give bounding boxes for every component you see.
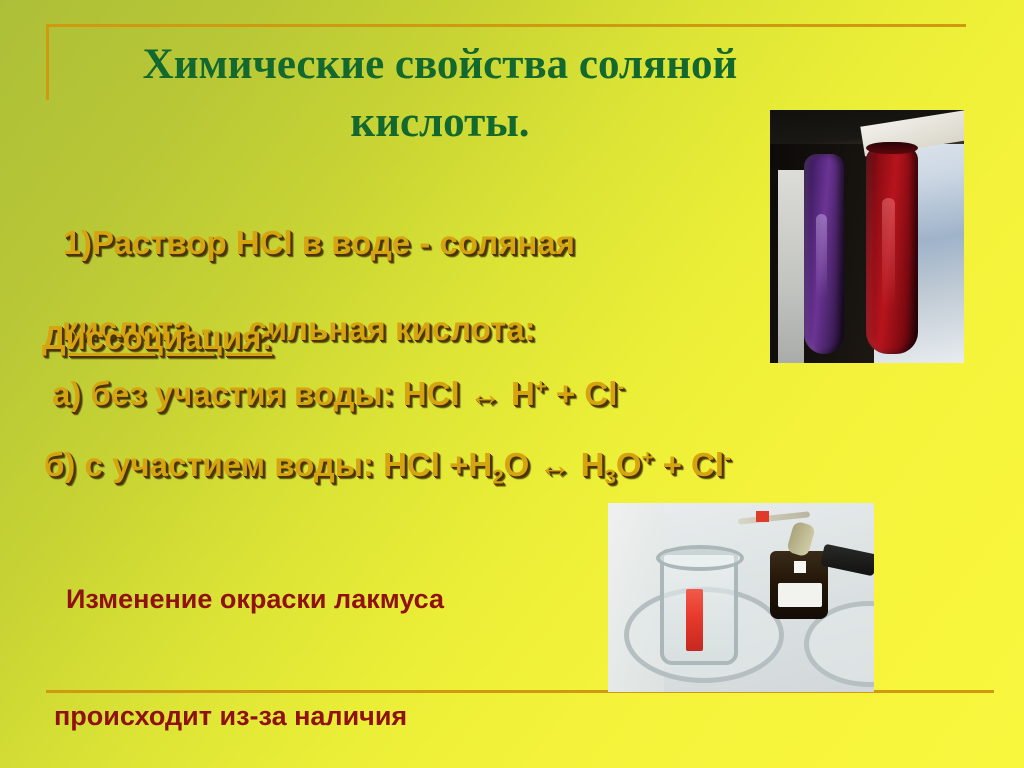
slide-title: Химические свойства соляной кислоты. [60, 36, 820, 152]
slide: Химические свойства соляной кислоты. 1)Р… [0, 0, 1024, 768]
equation-a-product-2: Cl [584, 375, 617, 412]
litmus-note-line-1: Изменение окраски лакмуса [54, 580, 444, 619]
dissociation-heading: Диссоциация: [42, 316, 272, 359]
equation-b-reactant-2-count: 2 [492, 466, 503, 489]
equation-b-product-1-count: 3 [604, 466, 615, 489]
equation-a-reactant: HCl [403, 375, 460, 412]
equation-a-label: а) без участия воды: [52, 375, 403, 412]
equation-b-reactant-2: H [468, 446, 492, 483]
bottle-clamp [820, 544, 874, 577]
equation-a-product-2-charge: - [617, 375, 624, 398]
equation-a-product-1-charge: + [535, 375, 547, 398]
equation-b-reactant-2-tail: O [504, 446, 530, 483]
red-litmus-strip [686, 589, 703, 651]
equation-b: б) с участием воды: HCl +H2O ↔ H3O+ + Cl… [44, 443, 731, 486]
purple-tube-highlight [816, 214, 827, 298]
equation-b-product-1: H [581, 446, 605, 483]
equation-b-arrow-icon: ↔ [529, 446, 580, 483]
glass-beaker-rim [656, 545, 744, 571]
equation-b-product-1-tail: O [616, 446, 642, 483]
equation-a-arrow-icon: ↔ [460, 375, 511, 412]
equation-b-label: б) с участием воды: [44, 446, 383, 483]
point-one-line-1: 1)Раствор HCl в воде - соляная [63, 224, 575, 261]
test-tubes-photo [770, 110, 964, 363]
equation-b-product-1-charge: + [642, 446, 654, 469]
equation-a: а) без участия воды: HCl ↔ H+ + Cl- [52, 372, 624, 415]
equation-b-product-2: Cl [691, 446, 724, 483]
decorative-rule-top [46, 24, 966, 27]
reagent-bottle-gloss [794, 561, 806, 573]
red-tube-highlight [882, 198, 895, 308]
equation-b-product-2-charge: - [724, 446, 731, 469]
litmus-note: Изменение окраски лакмуса происходит из-… [54, 502, 444, 768]
decorative-rule-left [46, 24, 49, 100]
reagent-bottle-label [778, 583, 822, 607]
red-tube-rim [866, 142, 918, 154]
reagent-bottle-tip [756, 511, 769, 522]
equation-a-product-1: H [511, 375, 535, 412]
lab-bench-photo [608, 503, 874, 692]
equation-a-plus: + [547, 375, 585, 412]
litmus-note-line-2: происходит из-за наличия [54, 697, 444, 736]
photo-left-strip [778, 170, 804, 363]
equation-b-reactant-1: HCl + [383, 446, 468, 483]
equation-b-plus: + [653, 446, 691, 483]
